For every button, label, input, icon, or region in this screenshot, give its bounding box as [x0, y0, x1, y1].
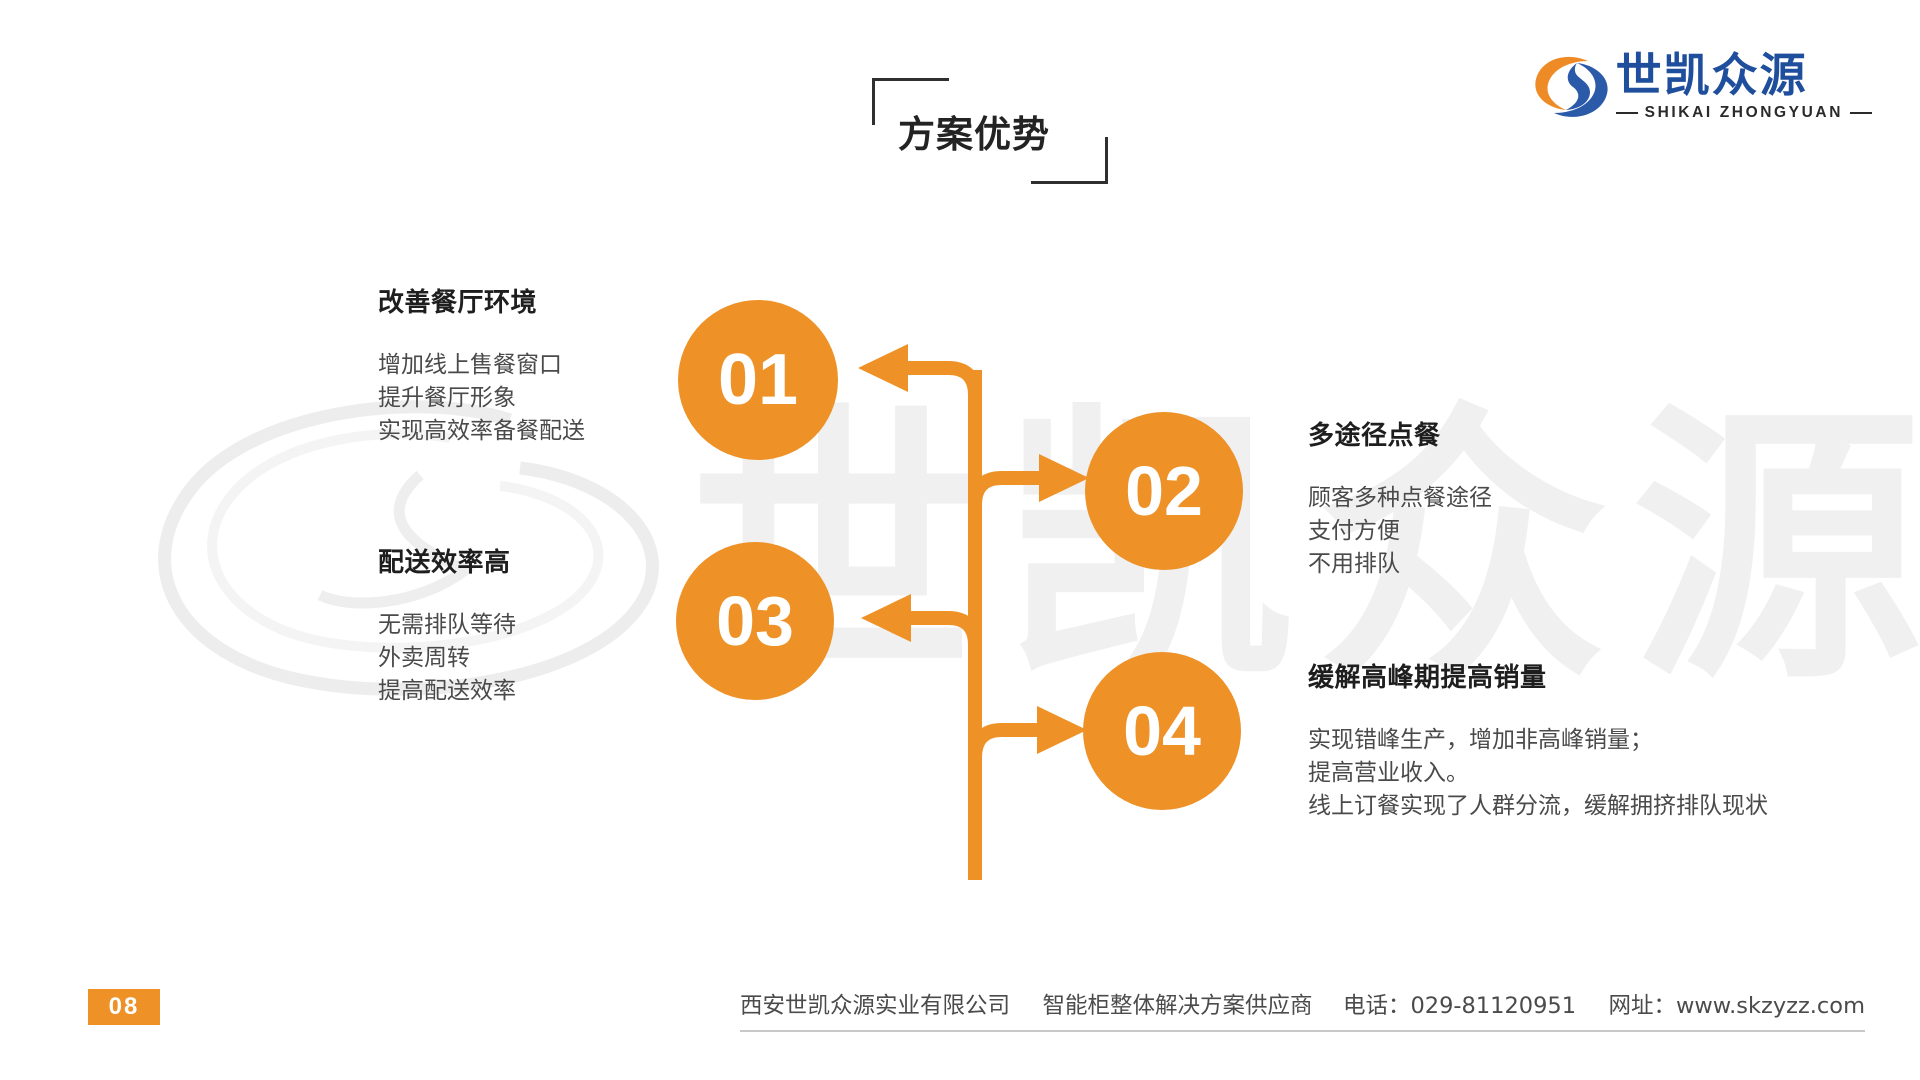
list-item: 支付方便: [1308, 515, 1492, 548]
advantage-heading-02: 多途径点餐: [1308, 415, 1492, 452]
page-number-badge: 08: [88, 989, 160, 1025]
logo-rule-right: [1850, 112, 1872, 114]
advantage-list-03: 无需排队等待 外卖周转 提高配送效率: [378, 609, 516, 708]
company-logo: 世凯众源 SHIKAI ZHONGYUAN: [1532, 52, 1872, 122]
footer-phone: 电话：029-81120951: [1343, 988, 1576, 1020]
advantage-heading-03: 配送效率高: [378, 542, 516, 579]
advantage-heading-04: 缓解高峰期提高销量: [1308, 657, 1768, 694]
arrowhead-04-icon: [1037, 706, 1087, 754]
node-circle-03[interactable]: 03: [676, 542, 834, 700]
footer-tagline: 智能柜整体解决方案供应商: [1042, 988, 1312, 1020]
connector-branch-03: [908, 618, 975, 650]
advantage-block-01: 改善餐厅环境 增加线上售餐窗口 提升餐厅形象 实现高效率备餐配送: [378, 282, 585, 448]
advantage-list-01: 增加线上售餐窗口 提升餐厅形象 实现高效率备餐配送: [378, 349, 585, 448]
advantage-block-03: 配送效率高 无需排队等待 外卖周转 提高配送效率: [378, 542, 516, 708]
logo-rule-left: [1616, 112, 1638, 114]
arrowhead-01-icon: [858, 344, 908, 392]
list-item: 顾客多种点餐途径: [1308, 482, 1492, 515]
logo-english-row: SHIKAI ZHONGYUAN: [1616, 104, 1872, 122]
arrowhead-03-icon: [861, 594, 911, 642]
node-circle-04[interactable]: 04: [1083, 652, 1241, 810]
list-item: 提高配送效率: [378, 675, 516, 708]
shikai-s-logo-icon: [1532, 52, 1610, 122]
footer-text-row: 西安世凯众源实业有限公司 智能柜整体解决方案供应商 电话：029-8112095…: [740, 988, 1865, 1030]
slide-canvas: 世凯众源 世凯众源 SHIKAI ZHONGYUAN 方案优势: [0, 0, 1920, 1080]
advantage-block-02: 多途径点餐 顾客多种点餐途径 支付方便 不用排队: [1308, 415, 1492, 581]
logo-english-name: SHIKAI ZHONGYUAN: [1638, 104, 1850, 122]
footer-divider: [740, 1030, 1865, 1032]
connector-branch-02: [975, 478, 1042, 510]
list-item: 增加线上售餐窗口: [378, 349, 585, 382]
advantage-list-02: 顾客多种点餐途径 支付方便 不用排队: [1308, 482, 1492, 581]
footer: 西安世凯众源实业有限公司 智能柜整体解决方案供应商 电话：029-8112095…: [740, 988, 1865, 1032]
list-item: 无需排队等待: [378, 609, 516, 642]
connector-branch-04: [975, 730, 1040, 790]
list-item: 不用排队: [1308, 548, 1492, 581]
connector-branch-01: [905, 368, 975, 400]
list-item: 线上订餐实现了人群分流，缓解拥挤排队现状: [1308, 790, 1768, 823]
list-item: 实现高效率备餐配送: [378, 415, 585, 448]
logo-chinese-name: 世凯众源: [1616, 52, 1872, 99]
arrowhead-02-icon: [1039, 454, 1089, 502]
advantage-list-04: 实现错峰生产，增加非高峰销量； 提高营业收入。 线上订餐实现了人群分流，缓解拥挤…: [1308, 724, 1768, 823]
list-item: 提升餐厅形象: [378, 382, 585, 415]
list-item: 提高营业收入。: [1308, 757, 1768, 790]
node-circle-02[interactable]: 02: [1085, 412, 1243, 570]
footer-company: 西安世凯众源实业有限公司: [740, 988, 1010, 1020]
list-item: 外卖周转: [378, 642, 516, 675]
node-circle-01[interactable]: 01: [678, 300, 838, 460]
advantage-heading-01: 改善餐厅环境: [378, 282, 585, 319]
footer-website: 网址：www.skzyzz.com: [1608, 988, 1865, 1020]
advantage-block-04: 缓解高峰期提高销量 实现错峰生产，增加非高峰销量； 提高营业收入。 线上订餐实现…: [1308, 657, 1768, 823]
list-item: 实现错峰生产，增加非高峰销量；: [1308, 724, 1768, 757]
page-title: 方案优势: [898, 104, 1050, 158]
page-title-block: 方案优势: [872, 78, 1062, 170]
